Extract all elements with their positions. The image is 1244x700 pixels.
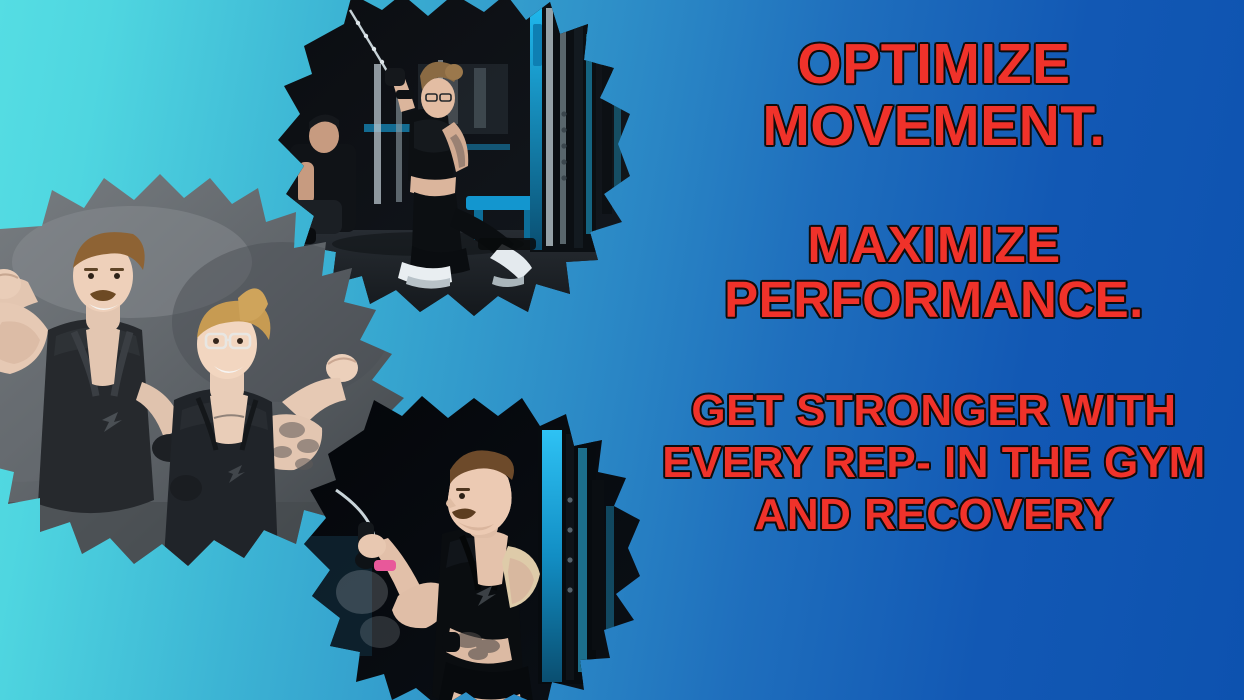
collage-photo-curl	[302, 396, 640, 700]
headline-line-optimize: OPTIMIZE MOVEMENT.	[654, 34, 1214, 157]
headline-line-stronger: GET STRONGER WITH EVERY REP- IN THE GYM …	[634, 385, 1234, 541]
headline-block: OPTIMIZE MOVEMENT. MAXIMIZE PERFORMANCE.…	[624, 0, 1244, 700]
poster-canvas: OPTIMIZE MOVEMENT. MAXIMIZE PERFORMANCE.…	[0, 0, 1244, 700]
headline-line-maximize: MAXIMIZE PERFORMANCE.	[654, 217, 1214, 327]
